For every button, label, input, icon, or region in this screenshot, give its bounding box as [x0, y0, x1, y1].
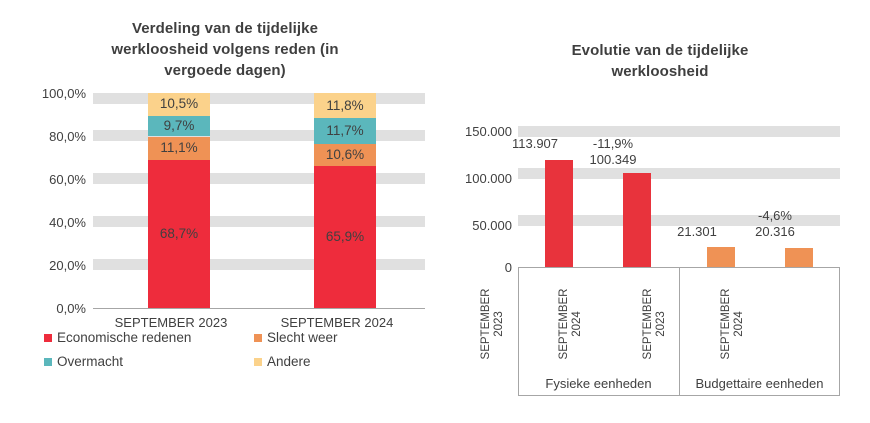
value-label-fysieke-2024: 100.349	[575, 152, 651, 168]
legend-item-overmacht[interactable]: Overmacht	[44, 354, 123, 370]
right-chart-title-line1: Evolutie van de tijdelijke	[450, 40, 870, 61]
segment-economische-redenen-2023[interactable]: 68,7%	[148, 160, 210, 308]
legend-item-andere[interactable]: Andere	[254, 354, 311, 370]
left-ytick-20: 20,0%	[20, 259, 86, 272]
group-label-fysieke-eenheden: Fysieke eenheden	[518, 376, 679, 391]
segment-label: 65,9%	[326, 230, 364, 244]
segment-label: 11,7%	[326, 124, 363, 138]
xtick-year: 2024	[571, 276, 584, 372]
xtick-month: SEPTEMBER	[558, 276, 571, 372]
change-label-budgettaire-2024: -4,6%	[737, 208, 813, 224]
xtick-fysieke-2024: SEPTEMBER 2024	[558, 276, 584, 372]
segment-label: 9,7%	[164, 119, 195, 133]
value-label-fysieke-2023: 113.907	[497, 136, 573, 152]
column-budgettaire-2023[interactable]	[707, 247, 735, 267]
xtick-month: SEPTEMBER	[480, 276, 493, 372]
legend-label: Slecht weer	[267, 330, 338, 346]
segment-andere-2023[interactable]: 10,5%	[148, 93, 210, 116]
segment-overmacht-2023[interactable]: 9,7%	[148, 116, 210, 137]
segment-label: 11,8%	[326, 99, 363, 113]
left-ytick-100: 100,0%	[20, 87, 86, 100]
left-category-2023: SEPTEMBER 2023	[98, 315, 244, 330]
xtick-year: 2023	[655, 276, 668, 372]
legend-swatch-overmacht	[44, 358, 52, 366]
legend-item-slecht-weer[interactable]: Slecht weer	[254, 330, 338, 346]
segment-label: 11,1%	[160, 141, 197, 155]
column-chart: Evolutie van de tijdelijke werkloosheid …	[450, 0, 870, 423]
xtick-year: 2024	[733, 276, 746, 372]
xtick-budgettaire-2023: SEPTEMBER 2023	[642, 276, 668, 372]
right-ytick-100000: 100.000	[450, 172, 512, 185]
xtick-month: SEPTEMBER	[642, 276, 655, 372]
column-fysieke-2023[interactable]	[545, 160, 573, 267]
segment-label: 10,6%	[326, 148, 364, 162]
stacked-bar-2023[interactable]: 10,5% 9,7% 11,1% 68,7%	[148, 93, 210, 308]
right-chart-title: Evolutie van de tijdelijke werkloosheid	[450, 40, 870, 82]
left-chart-title-line2: werkloosheid volgens reden (in	[0, 39, 450, 60]
left-chart-legend: Economische redenen Slecht weer Overmach…	[44, 330, 444, 376]
left-ytick-60: 60,0%	[20, 173, 86, 186]
xtick-budgettaire-2024: SEPTEMBER 2024	[720, 276, 746, 372]
xtick-year: 2023	[493, 276, 506, 372]
segment-slecht-weer-2024[interactable]: 10,6%	[314, 144, 376, 167]
left-ytick-80: 80,0%	[20, 130, 86, 143]
stacked-bar-chart: Verdeling van de tijdelijke werkloosheid…	[0, 0, 450, 423]
figure-canvas: Verdeling van de tijdelijke werkloosheid…	[0, 0, 870, 423]
xtick-month: SEPTEMBER	[720, 276, 733, 372]
left-chart-title-line3: vergoede dagen)	[0, 60, 450, 81]
legend-swatch-andere	[254, 358, 262, 366]
legend-label: Economische redenen	[57, 330, 191, 346]
group-label-budgettaire-eenheden: Budgettaire eenheden	[679, 376, 840, 391]
right-ytick-50000: 50.000	[450, 219, 512, 232]
left-chart-title: Verdeling van de tijdelijke werkloosheid…	[0, 18, 450, 81]
legend-swatch-economische-redenen	[44, 334, 52, 342]
left-category-2024: SEPTEMBER 2024	[264, 315, 410, 330]
column-budgettaire-2024[interactable]	[785, 248, 813, 267]
xtick-fysieke-2023: SEPTEMBER 2023	[480, 276, 506, 372]
right-ytick-0: 0	[450, 261, 512, 274]
legend-item-economische-redenen[interactable]: Economische redenen	[44, 330, 191, 346]
legend-swatch-slecht-weer	[254, 334, 262, 342]
right-chart-title-line2: werkloosheid	[450, 61, 870, 82]
left-x-axis	[93, 308, 425, 309]
segment-slecht-weer-2023[interactable]: 11,1%	[148, 137, 210, 161]
segment-label: 10,5%	[160, 97, 198, 111]
segment-andere-2024[interactable]: 11,8%	[314, 93, 376, 118]
change-label-fysieke-2024: -11,9%	[575, 136, 651, 152]
column-fysieke-2024[interactable]	[623, 173, 651, 267]
segment-economische-redenen-2024[interactable]: 65,9%	[314, 166, 376, 308]
left-plot-area: 10,5% 9,7% 11,1% 68,7% 11,8% 11,7%	[93, 93, 425, 308]
left-chart-title-line1: Verdeling van de tijdelijke	[0, 18, 450, 39]
segment-overmacht-2024[interactable]: 11,7%	[314, 118, 376, 143]
left-ytick-40: 40,0%	[20, 216, 86, 229]
value-label-budgettaire-2023: 21.301	[659, 224, 735, 240]
stacked-bar-2024[interactable]: 11,8% 11,7% 10,6% 65,9%	[314, 93, 376, 308]
left-ytick-0: 0,0%	[20, 302, 86, 315]
legend-label: Overmacht	[57, 354, 123, 370]
value-label-budgettaire-2024: 20.316	[737, 224, 813, 240]
legend-label: Andere	[267, 354, 311, 370]
segment-label: 68,7%	[160, 227, 198, 241]
